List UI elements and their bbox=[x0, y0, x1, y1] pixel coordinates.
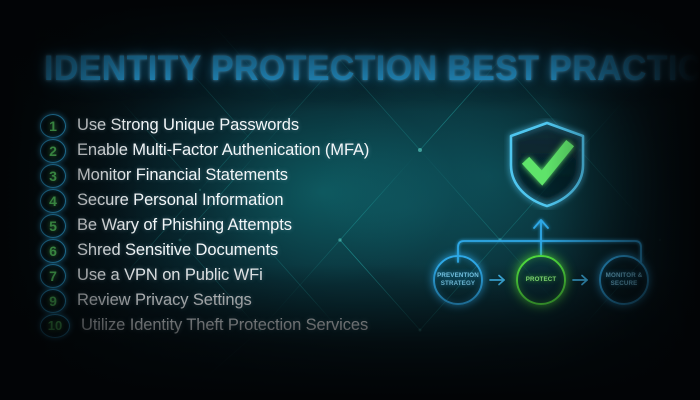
vignette-overlay bbox=[0, 0, 700, 400]
infographic-slide: IDENTITY PROTECTION BEST PRACTICES 1 Use… bbox=[0, 0, 700, 400]
